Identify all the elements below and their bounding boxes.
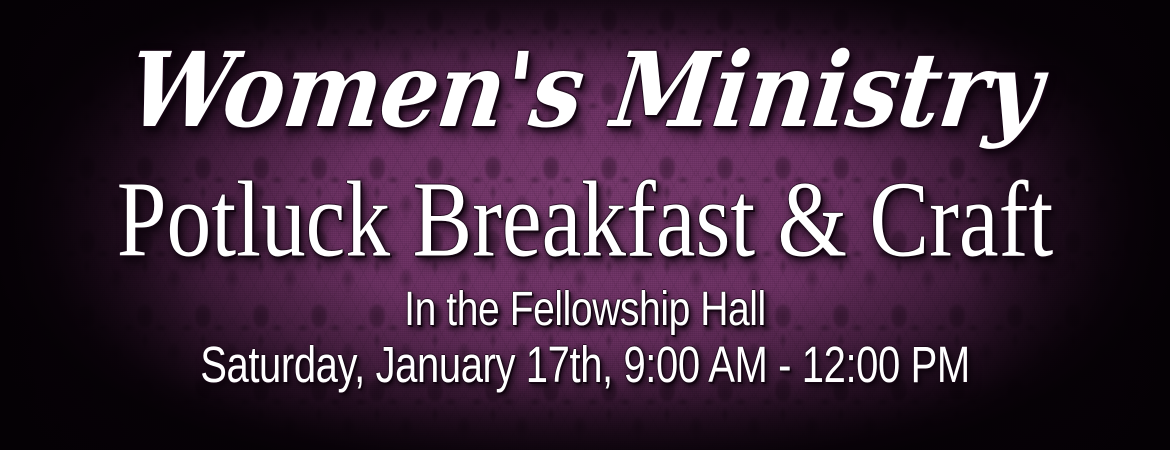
event-title: Potluck Breakfast & Craft xyxy=(82,166,1088,274)
event-datetime: Saturday, January 17th, 9:00 AM - 12:00 … xyxy=(117,339,1053,390)
event-banner: Women's Ministry Potluck Breakfast & Cra… xyxy=(0,0,1170,450)
ministry-script-heading: Women's Ministry xyxy=(0,38,1170,141)
event-venue: In the Fellowship Hall xyxy=(99,284,1070,332)
banner-content: Women's Ministry Potluck Breakfast & Cra… xyxy=(0,0,1170,450)
